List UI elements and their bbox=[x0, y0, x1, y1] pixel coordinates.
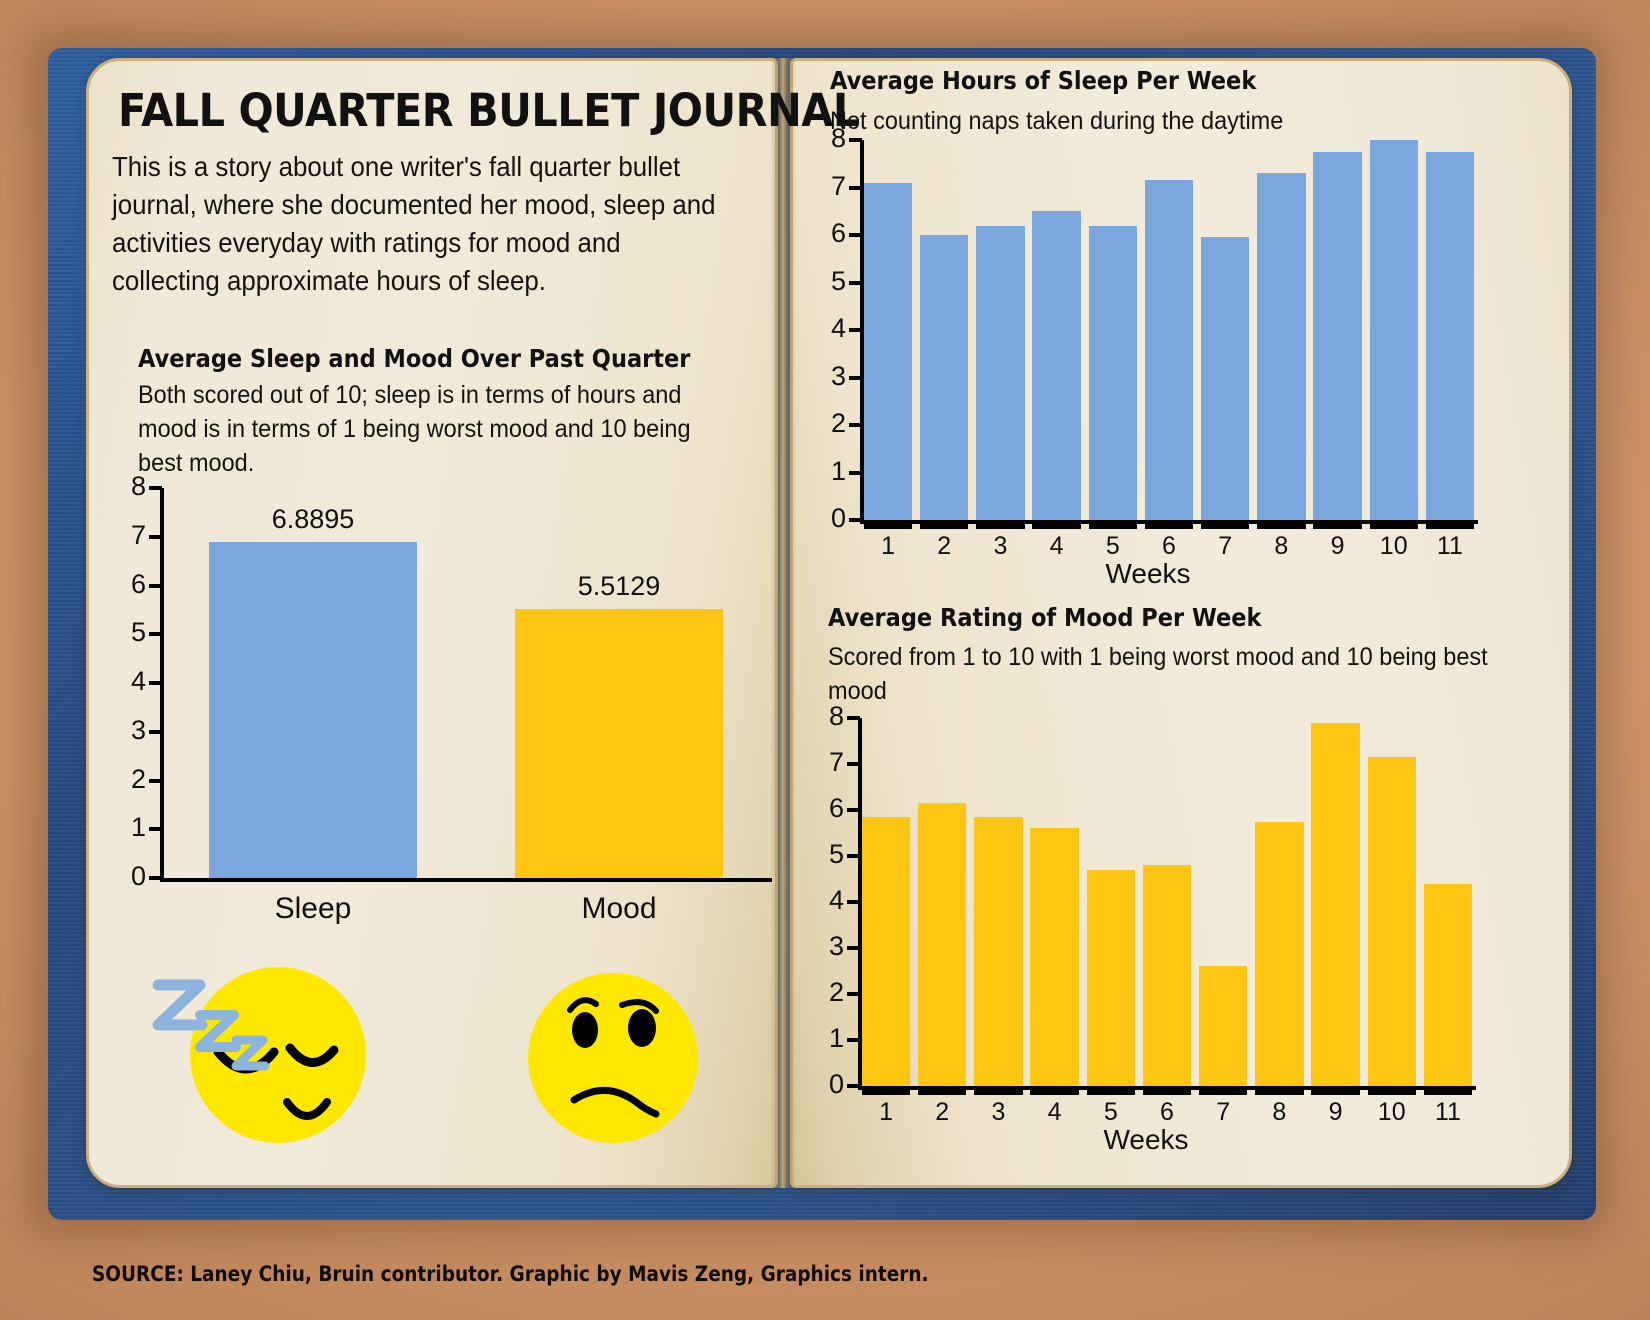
x-axis-tick bbox=[1199, 1090, 1247, 1095]
x-axis-category-label: 2 bbox=[916, 532, 972, 561]
y-axis-tick bbox=[849, 376, 862, 380]
y-axis-tick bbox=[149, 827, 162, 831]
x-axis-tick bbox=[864, 524, 912, 529]
y-axis-tick bbox=[847, 1038, 860, 1042]
mood-chart-title: Average Rating of Mood Per Week bbox=[828, 603, 1261, 632]
summary-chart-subtitle: Both scored out of 10; sleep is in terms… bbox=[138, 378, 721, 480]
page-title: FALL QUARTER BULLET JOURNAL bbox=[118, 84, 859, 137]
x-axis-tick bbox=[1030, 1090, 1078, 1095]
y-axis-tick bbox=[849, 471, 862, 475]
bar bbox=[209, 542, 417, 878]
summary-chart-title: Average Sleep and Mood Over Past Quarter bbox=[138, 344, 690, 373]
y-axis-tick-label: 1 bbox=[810, 456, 846, 487]
y-axis-tick-label: 3 bbox=[810, 361, 846, 392]
x-axis-category-label: 2 bbox=[914, 1098, 970, 1127]
y-axis-tick bbox=[847, 762, 860, 766]
y-axis-tick-label: 0 bbox=[808, 1069, 844, 1100]
x-axis-category-label: 7 bbox=[1195, 1098, 1251, 1127]
x-axis-category-label: 5 bbox=[1085, 532, 1141, 561]
y-axis-tick bbox=[149, 779, 162, 783]
summary-bar-chart: 876543210Sleep6.8895Mood5.5129 bbox=[112, 488, 772, 878]
x-axis-tick bbox=[862, 1090, 910, 1095]
mood-chart-x-axis-label: Weeks bbox=[816, 1124, 1476, 1156]
y-axis-tick-label: 0 bbox=[110, 861, 146, 892]
y-axis-tick-label: 4 bbox=[110, 666, 146, 697]
x-axis-category-label: 11 bbox=[1420, 1098, 1476, 1127]
x-axis-category-label: 4 bbox=[1029, 532, 1085, 561]
source-credit: SOURCE: Laney Chiu, Bruin contributor. G… bbox=[92, 1262, 929, 1286]
y-axis-tick bbox=[849, 328, 862, 332]
x-axis-category-label: 9 bbox=[1307, 1098, 1363, 1127]
y-axis-tick-label: 4 bbox=[808, 885, 844, 916]
bar-value-label: 5.5129 bbox=[466, 571, 772, 602]
x-axis-tick bbox=[1311, 1090, 1359, 1095]
bar bbox=[1199, 966, 1247, 1086]
y-axis-tick bbox=[149, 876, 162, 880]
x-axis-tick bbox=[1201, 524, 1249, 529]
y-axis-tick bbox=[149, 535, 162, 539]
intro-paragraph: This is a story about one writer's fall … bbox=[112, 148, 732, 300]
y-axis-tick bbox=[849, 233, 862, 237]
y-axis-tick-label: 8 bbox=[810, 123, 846, 154]
book-binding bbox=[770, 58, 796, 1188]
bar bbox=[1145, 180, 1193, 520]
y-axis-tick bbox=[847, 808, 860, 812]
y-axis-tick bbox=[149, 486, 162, 490]
bar bbox=[1087, 870, 1135, 1086]
bar bbox=[1257, 173, 1305, 520]
bar bbox=[918, 803, 966, 1086]
y-axis-tick bbox=[847, 946, 860, 950]
bar bbox=[920, 235, 968, 520]
y-axis-tick bbox=[149, 681, 162, 685]
y-axis-tick bbox=[149, 632, 162, 636]
bar bbox=[1201, 237, 1249, 520]
y-axis-tick-label: 5 bbox=[810, 266, 846, 297]
x-axis-category-label: 3 bbox=[972, 532, 1028, 561]
x-axis-tick bbox=[1145, 524, 1193, 529]
y-axis-tick bbox=[847, 900, 860, 904]
y-axis-tick bbox=[847, 1084, 860, 1088]
x-axis-tick bbox=[1032, 524, 1080, 529]
x-axis-tick bbox=[1255, 1090, 1303, 1095]
y-axis-tick bbox=[849, 281, 862, 285]
y-axis-tick bbox=[849, 138, 862, 142]
x-axis-tick bbox=[1257, 524, 1305, 529]
x-axis-category-label: 1 bbox=[858, 1098, 914, 1127]
mood-chart-subtitle: Scored from 1 to 10 with 1 being worst m… bbox=[828, 640, 1505, 708]
y-axis-tick-label: 2 bbox=[810, 408, 846, 439]
confused-face-icon bbox=[518, 968, 708, 1148]
x-axis-tick bbox=[974, 1090, 1022, 1095]
bar bbox=[1255, 822, 1303, 1087]
y-axis-tick bbox=[847, 716, 860, 720]
y-axis-tick bbox=[849, 186, 862, 190]
bar bbox=[976, 226, 1024, 521]
y-axis-tick bbox=[847, 992, 860, 996]
x-axis-category-label: 3 bbox=[970, 1098, 1026, 1127]
x-axis-category-label: 6 bbox=[1141, 532, 1197, 561]
y-axis-tick bbox=[849, 423, 862, 427]
sleep-chart-title: Average Hours of Sleep Per Week bbox=[830, 66, 1256, 95]
y-axis-tick-label: 2 bbox=[808, 977, 844, 1008]
sleep-chart-subtitle: Not counting naps taken during the dayti… bbox=[830, 104, 1488, 138]
y-axis-tick-label: 1 bbox=[808, 1023, 844, 1054]
x-axis-category-label: 8 bbox=[1253, 532, 1309, 561]
x-axis-category-label: 11 bbox=[1422, 532, 1478, 561]
sleep-chart-x-axis-label: Weeks bbox=[818, 558, 1478, 590]
y-axis-tick bbox=[149, 584, 162, 588]
y-axis-tick bbox=[149, 730, 162, 734]
y-axis-tick-label: 6 bbox=[810, 218, 846, 249]
y-axis-tick-label: 8 bbox=[110, 471, 146, 502]
bar-value-label: 6.8895 bbox=[160, 504, 466, 535]
y-axis-tick-label: 7 bbox=[810, 171, 846, 202]
sleeping-face-icon bbox=[140, 930, 390, 1145]
y-axis-tick-label: 3 bbox=[110, 715, 146, 746]
x-axis-tick bbox=[1370, 524, 1418, 529]
bar bbox=[1424, 884, 1472, 1086]
bar bbox=[1426, 152, 1474, 520]
y-axis-tick-label: 6 bbox=[110, 569, 146, 600]
bar bbox=[1313, 152, 1361, 520]
x-axis-tick bbox=[1143, 1090, 1191, 1095]
bar bbox=[1030, 828, 1078, 1086]
y-axis-tick-label: 6 bbox=[808, 793, 844, 824]
x-axis-category-label: 4 bbox=[1027, 1098, 1083, 1127]
y-axis-tick bbox=[849, 518, 862, 522]
x-axis-category-label: 5 bbox=[1083, 1098, 1139, 1127]
x-axis-category-label: 10 bbox=[1366, 532, 1422, 561]
y-axis-tick-label: 2 bbox=[110, 764, 146, 795]
y-axis-tick-label: 8 bbox=[808, 701, 844, 732]
x-axis-tick bbox=[1368, 1090, 1416, 1095]
y-axis-tick-label: 4 bbox=[810, 313, 846, 344]
x-axis-category-label: Mood bbox=[466, 892, 772, 926]
x-axis-tick bbox=[976, 524, 1024, 529]
x-axis-tick bbox=[1424, 1090, 1472, 1095]
bar bbox=[1143, 865, 1191, 1086]
x-axis-category-label: 7 bbox=[1197, 532, 1253, 561]
bar bbox=[862, 817, 910, 1086]
mood-bar-chart: 8765432101234567891011 bbox=[816, 718, 1476, 1086]
x-axis-tick bbox=[1426, 524, 1474, 529]
y-axis-tick-label: 5 bbox=[110, 617, 146, 648]
x-axis-tick bbox=[920, 524, 968, 529]
y-axis-tick-label: 1 bbox=[110, 812, 146, 843]
x-axis-category-label: 10 bbox=[1364, 1098, 1420, 1127]
y-axis-tick-label: 5 bbox=[808, 839, 844, 870]
y-axis-tick-label: 0 bbox=[810, 503, 846, 534]
bar bbox=[864, 183, 912, 520]
bar bbox=[1089, 226, 1137, 521]
bar bbox=[1368, 757, 1416, 1086]
x-axis-tick bbox=[1313, 524, 1361, 529]
bar bbox=[515, 609, 723, 878]
x-axis-tick bbox=[1089, 524, 1137, 529]
y-axis-tick bbox=[847, 854, 860, 858]
y-axis-tick-label: 3 bbox=[808, 931, 844, 962]
bar bbox=[1032, 211, 1080, 520]
x-axis-line bbox=[160, 878, 772, 882]
x-axis-category-label: 9 bbox=[1309, 532, 1365, 561]
x-axis-category-label: 1 bbox=[860, 532, 916, 561]
bar bbox=[1370, 140, 1418, 520]
x-axis-tick bbox=[1087, 1090, 1135, 1095]
sleep-bar-chart: 8765432101234567891011 bbox=[818, 140, 1478, 520]
x-axis-category-label: 6 bbox=[1139, 1098, 1195, 1127]
x-axis-tick bbox=[918, 1090, 966, 1095]
y-axis-tick-label: 7 bbox=[110, 520, 146, 551]
x-axis-category-label: Sleep bbox=[160, 892, 466, 926]
y-axis-tick-label: 7 bbox=[808, 747, 844, 778]
bar bbox=[974, 817, 1022, 1086]
x-axis-category-label: 8 bbox=[1251, 1098, 1307, 1127]
bar bbox=[1311, 723, 1359, 1086]
